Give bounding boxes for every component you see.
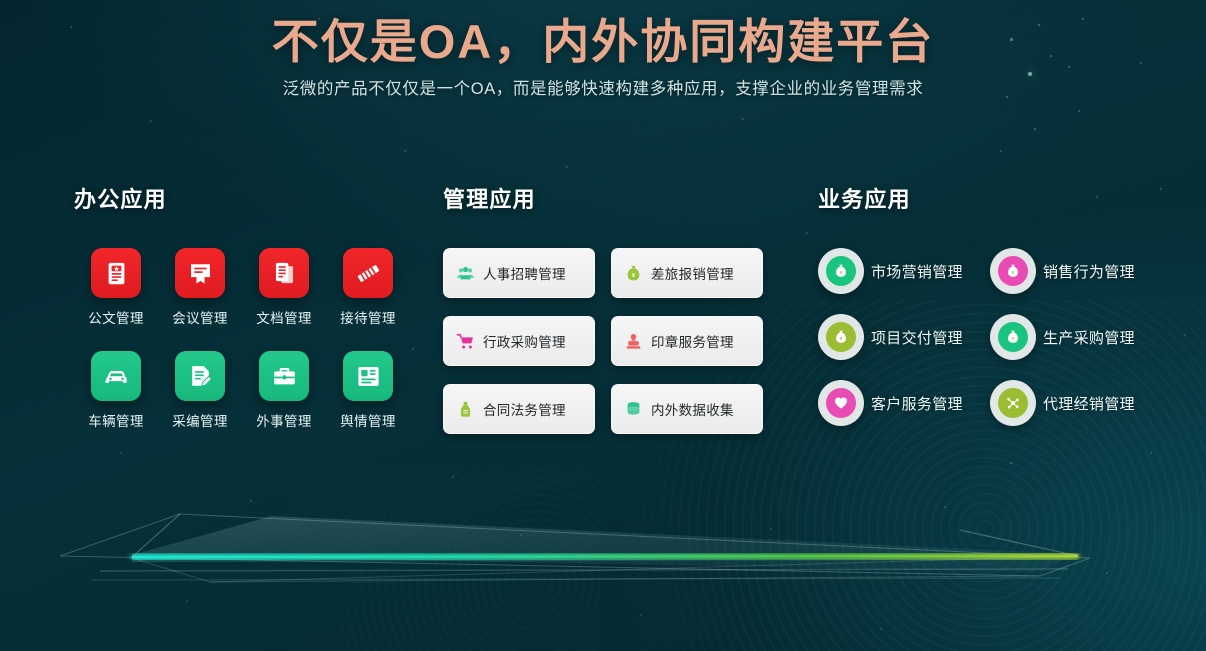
business-app-item[interactable]: ¥生产采购管理 (990, 314, 1162, 360)
business-app-label: 代理经销管理 (1043, 393, 1135, 414)
office-app-tile[interactable]: 外事管理 (242, 351, 326, 430)
business-app-icon-ring: ¥ (818, 248, 864, 294)
management-app-label: 行政采购管理 (483, 331, 566, 351)
car-icon (91, 351, 141, 401)
slide-canvas: 不仅是OA，内外协同构建平台 泛微的产品不仅仅是一个OA，而是能够快速构建多种应… (0, 0, 1206, 651)
svg-text:¥: ¥ (1012, 270, 1015, 276)
office-app-label: 公文管理 (88, 307, 144, 327)
business-app-label: 市场营销管理 (871, 261, 963, 282)
business-app-item[interactable]: ¥销售行为管理 (990, 248, 1162, 294)
money-bag-icon: ¥ (623, 263, 643, 283)
column-business-apps: 业务应用 ¥市场营销管理 ¥销售行为管理 ¥项目交付管理 ¥生产采购管理客户服务… (818, 182, 1178, 426)
contract-icon (455, 399, 475, 419)
heart-icon (826, 388, 856, 418)
office-app-label: 文档管理 (256, 307, 312, 327)
business-app-item[interactable]: 客户服务管理 (818, 380, 990, 426)
svg-text:¥: ¥ (840, 336, 843, 342)
business-app-item[interactable]: ¥项目交付管理 (818, 314, 990, 360)
business-app-grid: ¥市场营销管理 ¥销售行为管理 ¥项目交付管理 ¥生产采购管理客户服务管理 代理… (818, 248, 1178, 426)
business-app-label: 生产采购管理 (1043, 327, 1135, 348)
svg-text:¥: ¥ (1012, 336, 1015, 342)
office-app-tile[interactable]: 会议管理 (158, 248, 242, 327)
office-app-label: 会议管理 (172, 307, 228, 327)
document-icon (91, 248, 141, 298)
stamp-icon (623, 331, 643, 351)
management-app-label: 内外数据收集 (651, 399, 734, 419)
column-office-apps: 办公应用 公文管理 会议管理 文档管理 接待管理 (74, 182, 404, 430)
platform-graphic (0, 430, 1206, 651)
management-app-grid: 人事招聘管理 ¥差旅报销管理 行政采购管理 印章服务管理 合同法务管理 内外数据… (443, 248, 773, 434)
business-app-item[interactable]: ¥市场营销管理 (818, 248, 990, 294)
management-app-button[interactable]: 行政采购管理 (443, 316, 595, 366)
office-app-label: 接待管理 (340, 307, 396, 327)
ripple-decoration-left (180, 470, 600, 651)
money-bag-icon: ¥ (998, 256, 1028, 286)
business-app-icon-ring: ¥ (990, 248, 1036, 294)
office-app-tile[interactable]: 采编管理 (158, 351, 242, 430)
column-management-apps: 管理应用 人事招聘管理 ¥差旅报销管理 行政采购管理 印章服务管理 合同法务管理 (443, 182, 773, 434)
handshake-icon (343, 248, 393, 298)
management-app-label: 合同法务管理 (483, 399, 566, 419)
office-app-label: 外事管理 (256, 410, 312, 430)
management-app-button[interactable]: 内外数据收集 (611, 384, 763, 434)
page-subtitle: 泛微的产品不仅仅是一个OA，而是能够快速构建多种应用，支撑企业的业务管理需求 (0, 75, 1206, 99)
banner-icon (175, 248, 225, 298)
management-app-button[interactable]: 合同法务管理 (443, 384, 595, 434)
office-app-tile[interactable]: 文档管理 (242, 248, 326, 327)
page-title: 不仅是OA，内外协同构建平台 (0, 0, 1206, 69)
money-bag-icon: ¥ (998, 322, 1028, 352)
office-app-tile[interactable]: 公文管理 (74, 248, 158, 327)
edit-document-icon (175, 351, 225, 401)
business-app-label: 项目交付管理 (871, 327, 963, 348)
column-heading-business: 业务应用 (818, 182, 1178, 214)
documents-icon (259, 248, 309, 298)
network-icon (998, 388, 1028, 418)
money-bag-icon: ¥ (826, 256, 856, 286)
management-app-label: 印章服务管理 (651, 331, 734, 351)
business-app-icon-ring: ¥ (818, 314, 864, 360)
management-app-button[interactable]: 人事招聘管理 (443, 248, 595, 298)
office-app-label: 车辆管理 (88, 410, 144, 430)
database-icon (623, 399, 643, 419)
management-app-button[interactable]: 印章服务管理 (611, 316, 763, 366)
office-app-grid: 公文管理 会议管理 文档管理 接待管理 车辆管理 (74, 248, 404, 430)
newspaper-icon (343, 351, 393, 401)
office-app-label: 采编管理 (172, 410, 228, 430)
office-app-tile[interactable]: 接待管理 (326, 248, 410, 327)
management-app-button[interactable]: ¥差旅报销管理 (611, 248, 763, 298)
business-app-label: 客户服务管理 (871, 393, 963, 414)
people-icon (455, 263, 475, 283)
business-app-icon-ring: ¥ (990, 314, 1036, 360)
management-app-label: 差旅报销管理 (651, 263, 734, 283)
briefcase-icon (259, 351, 309, 401)
business-app-icon-ring (818, 380, 864, 426)
management-app-label: 人事招聘管理 (483, 263, 566, 283)
business-app-icon-ring (990, 380, 1036, 426)
office-app-tile[interactable]: 车辆管理 (74, 351, 158, 430)
header: 不仅是OA，内外协同构建平台 泛微的产品不仅仅是一个OA，而是能够快速构建多种应… (0, 0, 1206, 99)
office-app-label: 舆情管理 (340, 410, 396, 430)
svg-text:¥: ¥ (840, 270, 843, 276)
column-heading-office: 办公应用 (74, 182, 404, 214)
office-app-tile[interactable]: 舆情管理 (326, 351, 410, 430)
shopping-cart-icon (455, 331, 475, 351)
column-heading-management: 管理应用 (443, 182, 773, 214)
money-bag-icon: ¥ (826, 322, 856, 352)
business-app-label: 销售行为管理 (1043, 261, 1135, 282)
business-app-item[interactable]: 代理经销管理 (990, 380, 1162, 426)
